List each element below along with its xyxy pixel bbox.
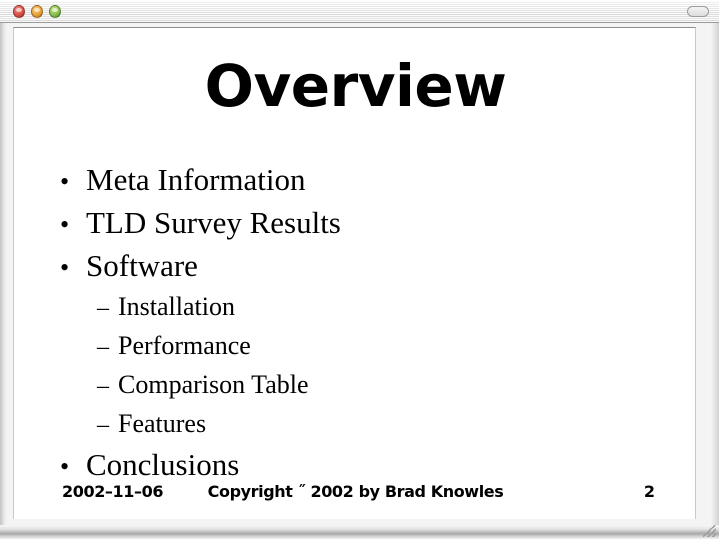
close-button-icon[interactable] <box>13 5 25 18</box>
list-item-label: Performance <box>118 327 696 364</box>
list-item-label: Meta Information <box>86 159 696 200</box>
bullet-marker-icon: • <box>60 247 86 288</box>
slide-title: Overview <box>14 57 696 115</box>
bullet-marker-icon: • <box>60 446 86 487</box>
list-item: – Comparison Table <box>14 366 696 405</box>
list-item-label: Conclusions <box>86 444 696 485</box>
bullet-marker-icon: • <box>60 161 86 202</box>
minimize-button-icon[interactable] <box>31 5 43 18</box>
list-item-label: Installation <box>118 288 696 325</box>
zoom-button-icon[interactable] <box>49 5 61 18</box>
resize-grip-icon[interactable] <box>703 525 716 537</box>
presentation-window: Overview • Meta Information • TLD Survey… <box>0 0 719 539</box>
slide-footer: 2002–11–06 Copyright ˝ 2002 by Brad Know… <box>14 482 696 506</box>
dash-marker-icon: – <box>97 329 118 366</box>
window-controls <box>13 5 61 18</box>
list-item-label: TLD Survey Results <box>86 202 696 243</box>
window-bottom-bar <box>0 525 719 539</box>
list-item: • TLD Survey Results <box>14 202 696 245</box>
footer-copyright: Copyright ˝ 2002 by Brad Knowles <box>14 482 696 501</box>
list-item: • Meta Information <box>14 159 696 202</box>
list-item: • Conclusions <box>14 444 696 487</box>
slide-bullet-list: • Meta Information • TLD Survey Results … <box>14 159 696 487</box>
list-item-label: Comparison Table <box>118 366 696 403</box>
dash-marker-icon: – <box>97 290 118 327</box>
dash-marker-icon: – <box>97 407 118 444</box>
window-content-area: Overview • Meta Information • TLD Survey… <box>0 23 719 539</box>
list-item: – Installation <box>14 288 696 327</box>
list-item-label: Features <box>118 405 696 442</box>
list-item: – Features <box>14 405 696 444</box>
list-item-label: Software <box>86 245 696 286</box>
bullet-marker-icon: • <box>60 204 86 245</box>
slide-canvas[interactable]: Overview • Meta Information • TLD Survey… <box>13 27 696 519</box>
footer-page-number: 2 <box>644 482 655 501</box>
toolbar-toggle-icon[interactable] <box>687 6 709 17</box>
list-item: – Performance <box>14 327 696 366</box>
list-item: • Software <box>14 245 696 288</box>
window-titlebar[interactable] <box>0 0 719 23</box>
titlebar-highlight <box>0 0 719 1</box>
dash-marker-icon: – <box>97 368 118 405</box>
